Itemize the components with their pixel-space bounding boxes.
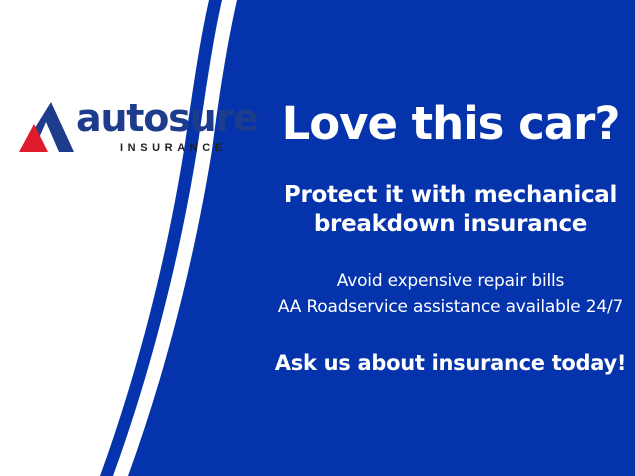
message-panel: Love this car? Protect it with mechanica…: [266, 0, 635, 476]
subheadline-line-1: Protect it with mechanical: [266, 181, 635, 210]
benefit-line-2: AA Roadservice assistance available 24/7: [266, 294, 635, 320]
logo-wordmark: autosure: [76, 96, 258, 140]
subheadline-line-2: breakdown insurance: [266, 210, 635, 239]
benefits-list: Avoid expensive repair bills AA Roadserv…: [266, 268, 635, 320]
subheadline-text: Protect it with mechanical breakdown ins…: [266, 181, 635, 239]
autosure-triangle-mark-icon: [14, 100, 76, 156]
benefit-line-1: Avoid expensive repair bills: [266, 268, 635, 294]
logo-subword-insurance: INSURANCE: [120, 142, 227, 154]
logo-red-triangle: [19, 124, 48, 152]
autosure-insurance-ad-banner: autosure INSURANCE Love this car? Protec…: [0, 0, 635, 476]
autosure-logo: autosure INSURANCE: [14, 96, 214, 168]
headline-text: Love this car?: [266, 98, 635, 150]
call-to-action-text: Ask us about insurance today!: [266, 350, 635, 377]
